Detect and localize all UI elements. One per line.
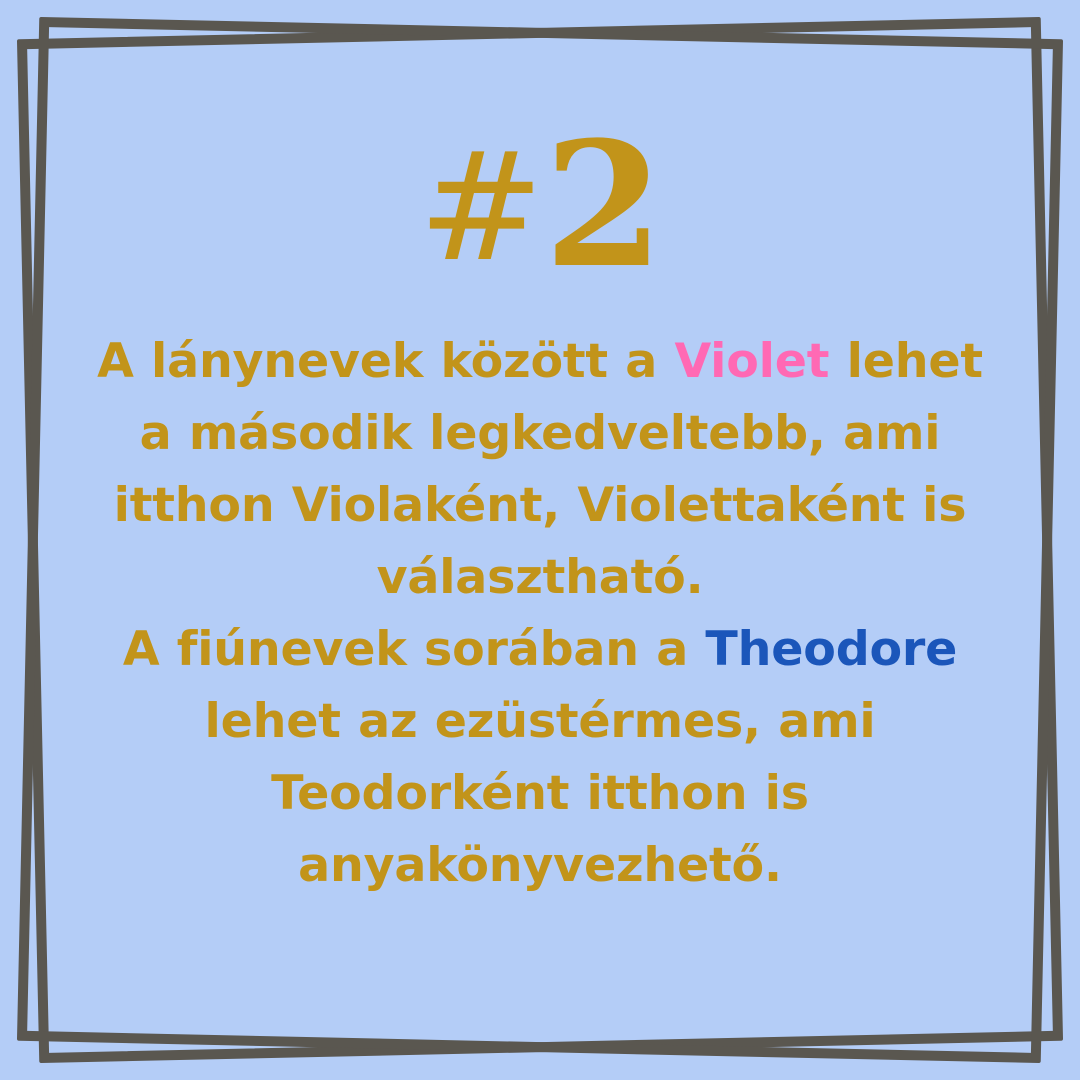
text-segment: lehet [829, 334, 983, 389]
body-line-1: A lánynevek között a Violet lehet [60, 326, 1020, 398]
body-line-6: lehet az ezüstérmes, ami [60, 686, 1020, 758]
highlight-violet: Violet [674, 334, 829, 389]
text-segment: A fiúnevek sorában a [123, 622, 706, 677]
body-line-2: a második legkedveltebb, ami [60, 398, 1020, 470]
highlight-theodore: Theodore [705, 622, 957, 677]
body-copy: A lánynevek között a Violet lehet a máso… [60, 326, 1020, 902]
body-line-4: választható. [60, 542, 1020, 614]
body-line-5: A fiúnevek sorában a Theodore [60, 614, 1020, 686]
text-segment: A lánynevek között a [97, 334, 674, 389]
rank-badge: #2 [418, 126, 661, 284]
body-line-3: itthon Violaként, Violettaként is [60, 470, 1020, 542]
rank-number: 2 [544, 103, 662, 306]
hash-icon: # [418, 121, 544, 295]
social-card: #2 A lánynevek között a Violet lehet a m… [0, 0, 1080, 1080]
body-line-7: Teodorként itthon is [60, 758, 1020, 830]
card-content: #2 A lánynevek között a Violet lehet a m… [0, 0, 1080, 1080]
body-line-8: anyakönyvezhető. [60, 830, 1020, 902]
